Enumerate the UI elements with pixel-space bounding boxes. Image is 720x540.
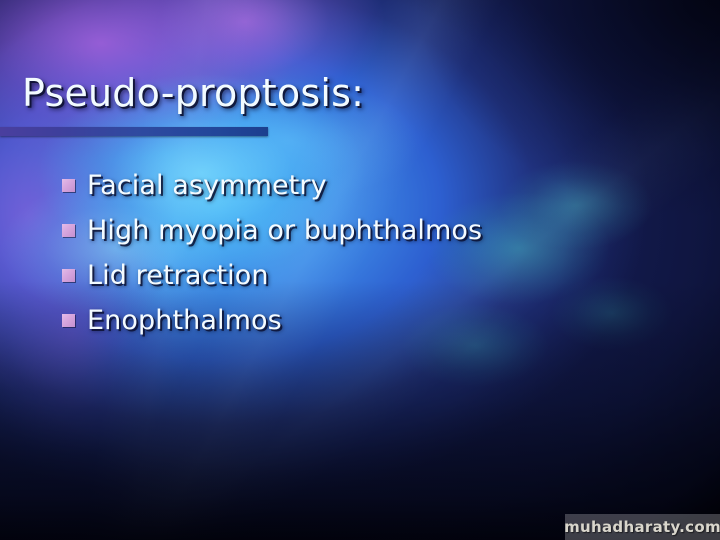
- presentation-slide: Pseudo-proptosis: Facial asymmetry High …: [0, 0, 720, 540]
- square-bullet-icon: [62, 224, 75, 237]
- bullet-list: Facial asymmetry High myopia or buphthal…: [62, 163, 682, 343]
- square-bullet-icon: [62, 314, 75, 327]
- list-item-label: High myopia or buphthalmos: [87, 216, 482, 246]
- watermark-badge: muhadharaty.com: [565, 514, 720, 540]
- list-item: Facial asymmetry: [62, 163, 682, 208]
- list-item: High myopia or buphthalmos: [62, 208, 682, 253]
- slide-title: Pseudo-proptosis:: [22, 70, 364, 116]
- list-item-label: Lid retraction: [87, 261, 269, 291]
- list-item: Enophthalmos: [62, 298, 682, 343]
- square-bullet-icon: [62, 179, 75, 192]
- square-bullet-icon: [62, 269, 75, 282]
- watermark-label: muhadharaty.com: [564, 518, 720, 536]
- title-divider-bar: [0, 127, 268, 136]
- list-item: Lid retraction: [62, 253, 682, 298]
- list-item-label: Facial asymmetry: [87, 171, 327, 201]
- list-item-label: Enophthalmos: [87, 306, 282, 336]
